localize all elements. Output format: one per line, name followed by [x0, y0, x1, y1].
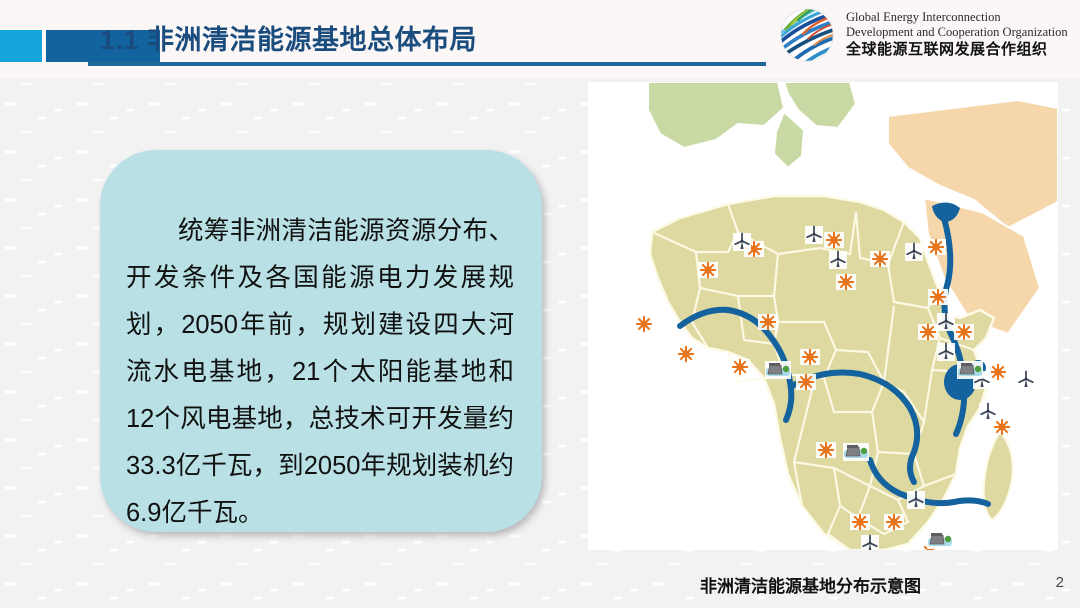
wind-base-icon	[907, 491, 925, 509]
solar-base-icon	[954, 324, 974, 340]
solar-base-icon	[824, 232, 844, 248]
hydro-base-icon	[843, 443, 869, 461]
solar-base-icon	[850, 514, 870, 530]
header-accent-light-block	[0, 30, 42, 62]
wind-base-icon	[937, 343, 955, 361]
solar-base-icon	[730, 359, 750, 375]
solar-base-icon	[836, 274, 856, 290]
hydro-base-icon	[765, 361, 791, 379]
summary-callout-box: 统筹非洲清洁能源资源分布、开发条件及各国能源电力发展规划，2050年前，规划建设…	[100, 150, 542, 532]
solar-base-icon	[758, 314, 778, 330]
wind-base-icon	[861, 535, 879, 550]
wind-base-icon	[905, 243, 923, 261]
globe-logo-icon	[776, 4, 838, 66]
solar-base-icon	[992, 419, 1012, 435]
logo-line-cn: 全球能源互联网发展合作组织	[846, 40, 1068, 60]
map-caption: 非洲清洁能源基地分布示意图	[700, 572, 921, 597]
logo-line-en-1: Global Energy Interconnection	[846, 10, 1068, 25]
solar-base-icon	[796, 374, 816, 390]
solar-base-icon	[918, 324, 938, 340]
hydro-base-icon	[957, 361, 983, 379]
wind-base-icon	[979, 403, 997, 421]
solar-base-icon	[800, 349, 820, 365]
wind-base-icon	[1017, 371, 1035, 389]
hydro-base-icon	[927, 531, 953, 549]
wind-base-icon	[733, 233, 751, 251]
organization-logo: Global Energy Interconnection Developmen…	[776, 4, 1068, 66]
solar-base-icon	[870, 251, 890, 267]
page-number: 2	[1056, 574, 1064, 591]
solar-base-icon	[634, 316, 654, 332]
solar-base-icon	[676, 346, 696, 362]
africa-map-svg	[588, 82, 1058, 550]
slide-header: 1.1 非洲清洁能源基地总体布局	[0, 0, 1080, 78]
summary-text: 统筹非洲清洁能源资源分布、开发条件及各国能源电力发展规划，2050年前，规划建设…	[126, 208, 514, 537]
solar-base-icon	[698, 262, 718, 278]
solar-base-icon	[926, 239, 946, 255]
solar-base-icon	[816, 442, 836, 458]
wind-base-icon	[829, 251, 847, 269]
logo-text-block: Global Energy Interconnection Developmen…	[846, 10, 1068, 60]
wind-base-icon	[937, 313, 955, 331]
slide-canvas: 1.1 非洲清洁能源基地总体布局	[0, 0, 1080, 608]
solar-base-icon	[928, 289, 948, 305]
africa-map-panel	[588, 82, 1058, 550]
header-underline	[88, 62, 766, 66]
wind-base-icon	[805, 226, 823, 244]
page-title: 1.1 非洲清洁能源基地总体布局	[100, 18, 477, 57]
solar-base-icon	[884, 514, 904, 530]
logo-line-en-2: Development and Cooperation Organization	[846, 25, 1068, 40]
